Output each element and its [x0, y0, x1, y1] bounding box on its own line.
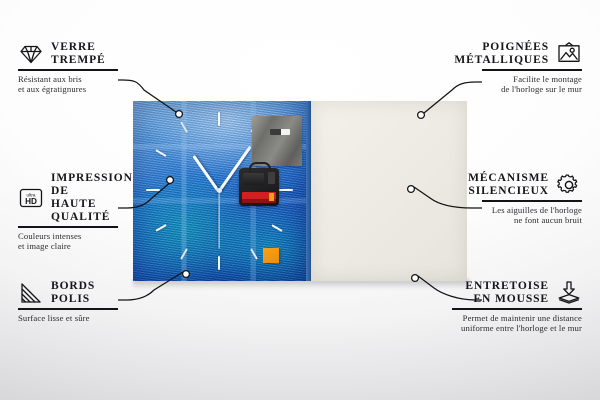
callout-title: IMPRESSION DE HAUTE QUALITÉ [51, 172, 133, 224]
gear-icon [556, 172, 582, 198]
callout-rule [452, 308, 582, 310]
callout-description: Couleurs intenses et image claire [18, 231, 118, 252]
callout-mecanisme-silencieux: MÉCANISME SILENCIEUX Les aiguilles de l'… [482, 172, 582, 226]
callout-description: Surface lisse et sûre [18, 313, 118, 324]
callout-impression-haute-qualite: ultra HD IMPRESSION DE HAUTE QUALITÉ Cou… [18, 172, 118, 252]
metal-hanger-plate [252, 116, 302, 166]
callout-title: POIGNÉES MÉTALLIQUES [454, 41, 549, 67]
callout-poignees-metalliques: POIGNÉES MÉTALLIQUES Facilite le montage… [482, 41, 582, 95]
callout-rule [482, 69, 582, 71]
tick-8 [155, 224, 166, 232]
clock-mechanism [239, 168, 279, 206]
tick-11 [180, 121, 188, 132]
polished-edge-icon [18, 280, 44, 306]
callout-bords-polis: BORDS POLIS Surface lisse et sûre [18, 280, 118, 323]
picture-hanger-icon [556, 41, 582, 67]
tick-7 [180, 248, 188, 259]
tick-5 [250, 248, 258, 259]
callout-title: BORDS POLIS [51, 280, 95, 306]
tick-12 [218, 112, 220, 126]
tick-9 [146, 189, 160, 191]
callout-rule [18, 69, 118, 71]
hanger-slot [270, 129, 290, 135]
callout-rule [482, 200, 582, 202]
mechanism-dial [243, 173, 264, 185]
callout-verre-trempe: VERRE TREMPÉ Résistant aux bris et aux é… [18, 41, 118, 95]
tick-10 [155, 149, 166, 157]
svg-text:HD: HD [25, 197, 37, 206]
callout-description: Permet de maintenir une distance uniform… [452, 313, 582, 334]
callout-rule [18, 308, 118, 310]
diamond-icon [18, 41, 44, 67]
tick-3 [279, 189, 293, 191]
hour-hand [192, 155, 220, 193]
callout-description: Résistant aux bris et aux égratignures [18, 74, 118, 95]
tick-6 [218, 256, 220, 270]
foam-spacer [263, 248, 279, 263]
tick-4 [271, 224, 282, 232]
second-hand [218, 191, 219, 249]
callout-title: MÉCANISME SILENCIEUX [468, 172, 549, 198]
hands-center-cap [217, 188, 222, 193]
ultra-hd-icon: ultra HD [18, 185, 44, 211]
callout-entretoise-en-mousse: ENTRETOISE EN MOUSSE Permet de maintenir… [452, 280, 582, 334]
foam-spacer-icon [556, 280, 582, 306]
callout-title: VERRE TREMPÉ [51, 41, 106, 67]
clock-back-panel [311, 101, 467, 281]
callout-description: Facilite le montage de l'horloge sur le … [482, 74, 582, 95]
callout-description: Les aiguilles de l'horloge ne font aucun… [482, 205, 582, 226]
callout-rule [18, 226, 118, 228]
battery [242, 192, 276, 203]
battery-tip [269, 193, 274, 201]
mechanism-knob [268, 172, 275, 184]
infographic-canvas: VERRE TREMPÉ Résistant aux bris et aux é… [0, 0, 600, 400]
callout-title: ENTRETOISE EN MOUSSE [465, 280, 549, 306]
